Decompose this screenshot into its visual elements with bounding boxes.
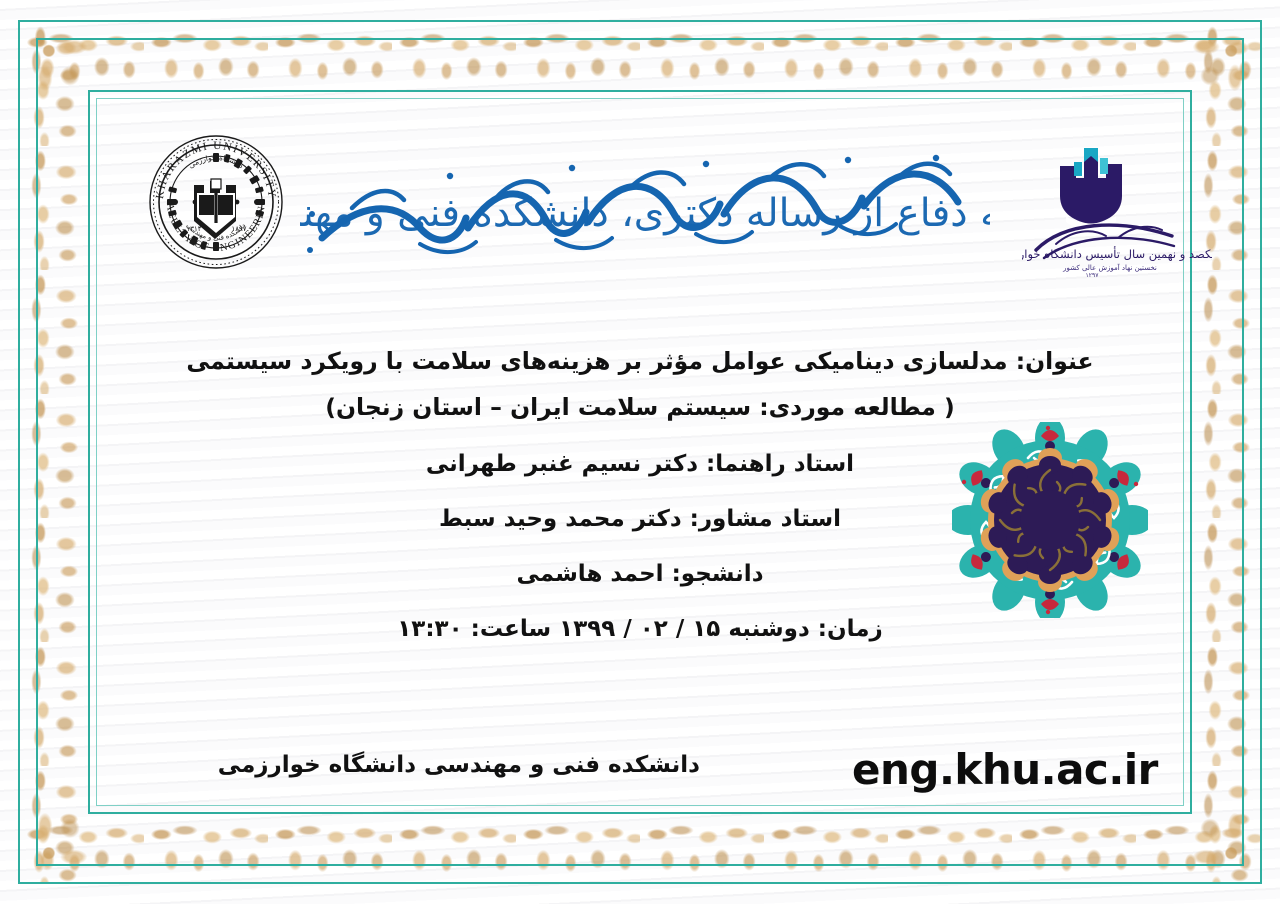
ornament-corner-bottom-left: [20, 786, 116, 882]
kharazmi-centenary-logo: یکصد و نهمین سال تأسیس دانشگاه خوارزمی ن…: [1022, 118, 1212, 278]
ornament-corner-bottom-right: [1164, 786, 1260, 882]
footer-website-url[interactable]: eng.khu.ac.ir: [852, 745, 1158, 794]
ornament-band-left: [20, 22, 88, 882]
centenary-year: ۱۲۹۷: [1086, 272, 1100, 278]
footer-faculty-text: دانشکده فنی و مهندسی دانشگاه خوارزمی: [218, 752, 700, 778]
header-calligraphy: جلسه دفاع از رساله دکتری، دانشکده فنی و …: [300, 142, 990, 268]
thesis-title-line: عنوان: مدلسازی دینامیکی عوامل مؤثر بر هز…: [96, 350, 1184, 374]
supervisor-line: استاد راهنما: دکتر نسیم غنبر طهرانی: [96, 453, 1184, 476]
seal-year-right: ۱۸۹۷: [231, 225, 246, 233]
case-study-line: ( مطالعه موردی: سیستم سلامت ایران – استا…: [96, 396, 1184, 420]
centenary-main-text: یکصد و نهمین سال تأسیس دانشگاه خوارزمی: [1022, 246, 1212, 262]
kharazmi-university-seal-icon: KHARAZMI UNIVERSITY FACULTY OF ENGINEERI…: [147, 133, 285, 271]
ornament-corner-top-left: [20, 22, 116, 118]
advisor-line: استاد مشاور: دکتر محمد وحید سبط: [96, 508, 1184, 531]
defense-announcement-poster: KHARAZMI UNIVERSITY FACULTY OF ENGINEERI…: [0, 0, 1280, 904]
centenary-crown-book-icon: [1060, 148, 1122, 230]
ornament-corner-top-right: [1164, 22, 1260, 118]
defense-details: عنوان: مدلسازی دینامیکی عوامل مؤثر بر هز…: [96, 350, 1184, 641]
datetime-line: زمان: دوشنبه ۱۵ / ۰۲ / ۱۳۹۹ ساعت: ۱۳:۳۰: [96, 618, 1184, 641]
ornament-band-bottom: [20, 814, 1260, 882]
ornament-band-top: [20, 22, 1260, 90]
centenary-sub-text: نخستین نهاد آموزش عالی کشور: [1062, 263, 1157, 272]
seal-year-left: ۱۳۱۴: [186, 225, 201, 233]
header-calligraphy-text: جلسه دفاع از رساله دکتری، دانشکده فنی و …: [300, 191, 990, 236]
student-line: دانشجو: احمد هاشمی: [96, 563, 1184, 586]
